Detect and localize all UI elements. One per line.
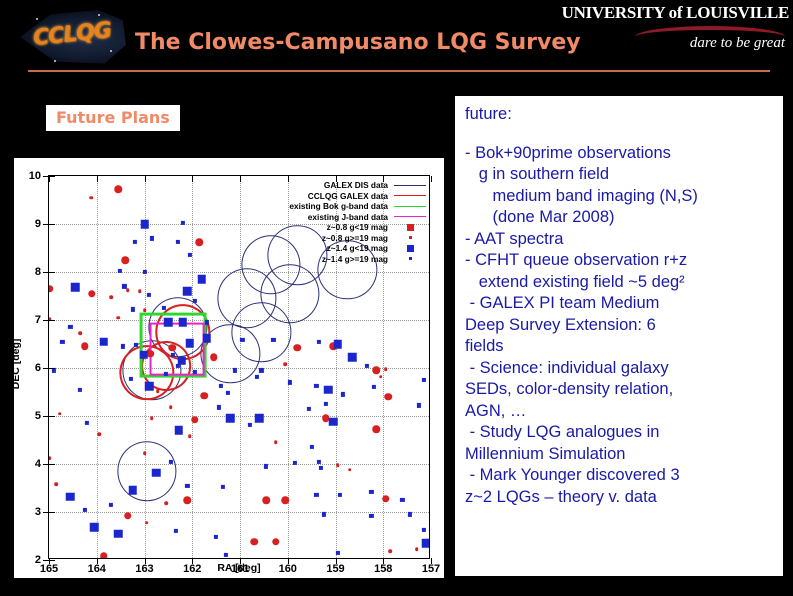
galex-dis-field-circle: [117, 441, 176, 501]
y-tick-left: [49, 416, 55, 417]
point-z14-bright: [128, 486, 137, 495]
point-z14-faint: [321, 512, 325, 516]
y-tick-label: 6: [35, 362, 41, 374]
legend-swatch: [393, 224, 427, 231]
point-z14-bright: [164, 318, 173, 327]
x-tick-top: [431, 176, 432, 182]
point-z14-bright: [100, 337, 109, 346]
x-tick-top: [192, 176, 193, 182]
point-z14-bright: [422, 539, 429, 548]
point-z08-faint: [58, 412, 62, 416]
university-name: UNIVERSITY of LOUISVILLE: [539, 3, 791, 23]
header-divider: [28, 70, 770, 72]
legend-label: existing Bok g-band data: [289, 201, 393, 211]
plot-frame: GALEX DIS dataCCLQG GALEX dataexisting B…: [48, 175, 430, 559]
legend-swatch: [393, 195, 427, 196]
notes-line: (done Mar 2008): [465, 207, 777, 229]
notes-line: fields: [465, 336, 777, 358]
x-tick-top: [383, 176, 384, 182]
legend-item: z~0.8 g<19 mag: [231, 222, 427, 233]
point-z14-faint: [271, 338, 275, 342]
point-z14-faint: [264, 464, 268, 468]
point-z08-bright: [263, 496, 271, 504]
point-z14-faint: [68, 325, 72, 329]
point-z14-faint: [176, 364, 180, 368]
point-z08-faint: [389, 550, 393, 554]
point-z08-bright: [382, 495, 390, 503]
point-z14-bright: [226, 414, 235, 423]
university-logo: UNIVERSITY of LOUISVILLE dare to be grea…: [539, 3, 791, 67]
gridline-vertical: [97, 176, 98, 558]
point-z14-faint: [60, 340, 64, 344]
point-z08-bright: [282, 496, 290, 504]
point-z08-bright: [372, 367, 380, 375]
x-tick-top: [240, 176, 241, 182]
y-tick-left: [49, 224, 55, 225]
x-tick-label: 158: [374, 563, 392, 575]
point-z14-faint: [122, 284, 126, 288]
legend-label: z~1.4 g<19 mag: [327, 243, 393, 253]
point-z14-bright: [202, 334, 211, 343]
point-z14-faint: [147, 293, 151, 297]
point-z14-bright: [114, 529, 123, 538]
point-z14-faint: [181, 221, 185, 225]
legend-swatch: [393, 257, 427, 260]
notes-line: - CFHT queue observation r+z: [465, 250, 777, 272]
point-z14-faint: [118, 268, 122, 272]
point-z14-faint: [134, 343, 138, 347]
point-z08-faint: [379, 375, 383, 379]
y-tick-label: 10: [29, 170, 41, 182]
point-z14-faint: [142, 270, 146, 274]
legend-item: z~0.8 g>=19 mag: [231, 233, 427, 244]
chart-legend: GALEX DIS dataCCLQG GALEX dataexisting B…: [231, 180, 427, 264]
point-z14-faint: [293, 461, 297, 465]
point-z08-bright: [272, 538, 280, 546]
point-z14-faint: [319, 466, 323, 470]
point-z14-faint: [247, 423, 251, 427]
legend-marker-line: [394, 206, 426, 207]
point-z14-bright: [348, 353, 357, 362]
point-z14-bright: [186, 339, 195, 348]
point-z08-bright: [114, 186, 122, 194]
point-z14-bright: [66, 492, 75, 501]
point-z08-bright: [191, 416, 199, 424]
point-z14-faint: [240, 338, 244, 342]
y-tick-label: 2: [35, 554, 41, 566]
point-z08-faint: [145, 521, 149, 525]
notes-line: - Science: individual galaxy: [465, 358, 777, 380]
legend-marker-square-large: [407, 245, 414, 252]
point-z14-faint: [221, 485, 225, 489]
x-tick-label: 162: [183, 563, 201, 575]
legend-item: CCLQG GALEX data: [231, 191, 427, 202]
point-z08-faint: [138, 289, 142, 293]
y-axis-label: DEC [deg]: [10, 339, 22, 390]
point-z08-bright: [210, 354, 218, 362]
legend-marker-line: [394, 185, 426, 186]
point-z14-faint: [372, 385, 376, 389]
x-tick-label: 157: [422, 563, 440, 575]
legend-label: z~0.8 g<19 mag: [327, 222, 393, 232]
legend-item: existing Bok g-band data: [231, 201, 427, 212]
notes-line: medium band imaging (N,S): [465, 186, 777, 208]
y-tick-left: [49, 368, 55, 369]
point-z08-faint: [164, 502, 168, 506]
y-tick-label: 8: [35, 266, 41, 278]
future-plans-badge: Future Plans: [46, 105, 180, 131]
slide-root: CCLQG The Clowes-Campusano LQG Survey UN…: [0, 0, 793, 596]
point-z08-faint: [284, 362, 288, 366]
point-z14-faint: [422, 378, 426, 382]
point-z14-faint: [317, 460, 321, 464]
point-z14-faint: [400, 498, 404, 502]
point-z14-faint: [130, 307, 134, 311]
point-z14-faint: [169, 460, 173, 464]
point-z14-bright: [324, 385, 333, 394]
notes-line: SEDs, color-density relation,: [465, 379, 777, 401]
point-z08-faint: [89, 196, 93, 200]
point-z08-faint: [336, 463, 340, 467]
legend-swatch: [393, 245, 427, 252]
point-z14-faint: [422, 528, 426, 532]
x-tick-label: 165: [40, 563, 58, 575]
point-z08-bright: [88, 290, 96, 298]
legend-marker-line: [394, 195, 426, 196]
university-tagline: dare to be great: [690, 35, 785, 52]
point-z14-faint: [369, 490, 373, 494]
legend-label: z~1.4 g>=19 mag: [322, 254, 393, 264]
point-z14-bright: [139, 350, 148, 359]
point-z14-faint: [310, 445, 314, 449]
point-z08-faint: [150, 417, 154, 421]
x-tick-top: [288, 176, 289, 182]
point-z08-bright: [294, 344, 302, 352]
point-z08-faint: [348, 468, 352, 472]
notes-line: - AAT spectra: [465, 229, 777, 251]
legend-item: z~1.4 g>=19 mag: [231, 254, 427, 265]
x-tick-top: [145, 176, 146, 182]
point-z08-bright: [168, 344, 176, 352]
point-z08-bright: [49, 285, 53, 293]
y-tick-left: [49, 272, 55, 273]
point-z08-faint: [415, 548, 419, 552]
future-plans-notes: future:- Bok+90prime observations g in s…: [455, 96, 783, 576]
point-z08-faint: [49, 456, 51, 460]
legend-swatch: [393, 236, 427, 239]
point-z08-bright: [100, 552, 108, 558]
y-tick-label: 4: [35, 458, 41, 470]
legend-item: z~1.4 g<19 mag: [231, 243, 427, 254]
point-z14-faint: [164, 372, 168, 376]
point-z08-faint: [116, 316, 120, 320]
notes-line: z~2 LQGs – theory v. data: [465, 487, 777, 509]
notes-line: - Study LQG analogues in: [465, 422, 777, 444]
point-z14-faint: [341, 392, 345, 396]
y-tick-left: [49, 512, 55, 513]
legend-swatch: [393, 206, 427, 207]
x-tick-top: [336, 176, 337, 182]
point-z14-faint: [338, 493, 342, 497]
point-z08-faint: [126, 288, 130, 292]
x-tick-label: 159: [326, 563, 344, 575]
point-z08-faint: [143, 452, 147, 456]
legend-label: CCLQG GALEX data: [308, 191, 393, 201]
notes-line: - GALEX PI team Medium: [465, 293, 777, 315]
point-z08-bright: [122, 256, 130, 264]
y-tick-label: 9: [35, 218, 41, 230]
legend-label: existing J-band data: [308, 212, 393, 222]
y-tick-label: 7: [35, 314, 41, 326]
notes-line: g in southern field: [465, 164, 777, 186]
point-z14-faint: [173, 529, 177, 533]
point-z08-bright: [251, 538, 259, 546]
point-z08-bright: [372, 426, 380, 434]
point-z08-bright: [384, 393, 392, 401]
point-z14-faint: [417, 403, 421, 407]
legend-item: GALEX DIS data: [231, 180, 427, 191]
point-z14-faint: [407, 512, 411, 516]
point-z14-bright: [152, 468, 161, 477]
point-z08-faint: [384, 367, 388, 371]
point-z08-faint: [143, 309, 147, 313]
legend-marker-square-small: [409, 257, 412, 260]
point-z14-faint: [193, 299, 197, 303]
x-tick-label: 164: [88, 563, 106, 575]
point-z08-bright: [81, 343, 89, 351]
point-z14-faint: [233, 368, 237, 372]
point-z14-bright: [90, 523, 99, 532]
point-z14-faint: [121, 344, 125, 348]
notes-line: Millennium Simulation: [465, 444, 777, 466]
legend-marker-square-large: [407, 224, 414, 231]
y-tick-left: [49, 464, 55, 465]
legend-swatch: [393, 216, 427, 217]
point-z08-faint: [109, 296, 113, 300]
y-tick-label: 3: [35, 506, 41, 518]
x-tick-top: [97, 176, 98, 182]
point-z14-faint: [162, 306, 166, 310]
point-z14-faint: [288, 380, 292, 384]
point-z14-faint: [204, 320, 208, 324]
point-z14-bright: [334, 340, 343, 349]
gridline-horizontal: [49, 416, 429, 417]
point-z14-faint: [193, 370, 197, 374]
legend-label: z~0.8 g>=19 mag: [322, 233, 393, 243]
point-z08-faint: [188, 434, 192, 438]
point-z08-faint: [54, 482, 58, 486]
legend-marker-square-small: [409, 236, 412, 239]
x-tick-label: 160: [279, 563, 297, 575]
point-z08-faint: [78, 332, 82, 336]
point-z08-faint: [97, 432, 101, 436]
point-z08-faint: [274, 441, 278, 445]
point-z14-faint: [255, 375, 259, 379]
point-z14-bright: [183, 287, 192, 296]
point-z08-faint: [156, 389, 160, 393]
legend-marker-line: [394, 216, 426, 217]
point-z14-faint: [307, 407, 311, 411]
point-z08-bright: [200, 392, 208, 400]
y-tick-label: 5: [35, 410, 41, 422]
point-z14-faint: [214, 535, 218, 539]
notes-line: AGN, …: [465, 401, 777, 423]
point-z14-faint: [226, 391, 230, 395]
point-z14-bright: [71, 283, 80, 292]
point-z14-faint: [314, 384, 318, 388]
x-tick-label: 163: [135, 563, 153, 575]
notes-line: Deep Survey Extension: 6: [465, 315, 777, 337]
point-z14-faint: [369, 514, 373, 518]
gridline-horizontal: [49, 464, 429, 465]
notes-line: future:: [465, 104, 777, 126]
point-z14-bright: [140, 220, 149, 229]
legend-item: existing J-band data: [231, 212, 427, 223]
point-z14-bright: [329, 418, 338, 427]
point-z14-faint: [224, 553, 228, 557]
point-z14-bright: [178, 318, 187, 327]
point-z08-bright: [124, 512, 132, 520]
point-z14-faint: [83, 508, 87, 512]
point-z14-faint: [219, 384, 223, 388]
x-axis-label: RA [deg]: [217, 562, 260, 574]
point-z14-faint: [171, 352, 175, 356]
point-z14-faint: [324, 402, 328, 406]
point-z14-faint: [129, 376, 133, 380]
notes-line: - Bok+90prime observations: [465, 143, 777, 165]
point-z14-faint: [85, 421, 89, 425]
point-z08-bright: [196, 238, 204, 246]
point-z14-bright: [198, 275, 207, 284]
point-z14-faint: [176, 240, 180, 244]
y-tick-left: [49, 320, 55, 321]
y-tick-left: [49, 560, 55, 561]
point-z14-faint: [336, 551, 340, 555]
point-z14-faint: [150, 236, 154, 240]
point-z14-faint: [259, 368, 263, 372]
point-z14-faint: [78, 388, 82, 392]
sky-coverage-chart: GALEX DIS dataCCLQG GALEX dataexisting B…: [14, 158, 444, 578]
point-z14-faint: [109, 503, 113, 507]
point-z08-faint: [169, 406, 173, 410]
point-z14-faint: [317, 340, 321, 344]
legend-swatch: [393, 185, 427, 186]
point-z14-bright: [255, 414, 264, 423]
notes-line: extend existing field ~5 deg²: [465, 272, 777, 294]
notes-line: - Mark Younger discovered 3: [465, 465, 777, 487]
notes-spacer: [465, 126, 777, 143]
point-z14-faint: [133, 240, 137, 244]
cclqg-logo: CCLQG: [14, 4, 130, 72]
point-z14-bright: [145, 382, 154, 391]
point-z08-bright: [184, 496, 192, 504]
point-z14-faint: [216, 405, 220, 409]
point-z14-faint: [188, 253, 192, 257]
point-z14-faint: [364, 364, 368, 368]
point-z14-bright: [175, 426, 184, 435]
future-plans-label: Future Plans: [56, 108, 170, 127]
point-z14-faint: [185, 484, 189, 488]
point-z14-faint: [314, 493, 318, 497]
y-tick-left: [49, 176, 55, 177]
